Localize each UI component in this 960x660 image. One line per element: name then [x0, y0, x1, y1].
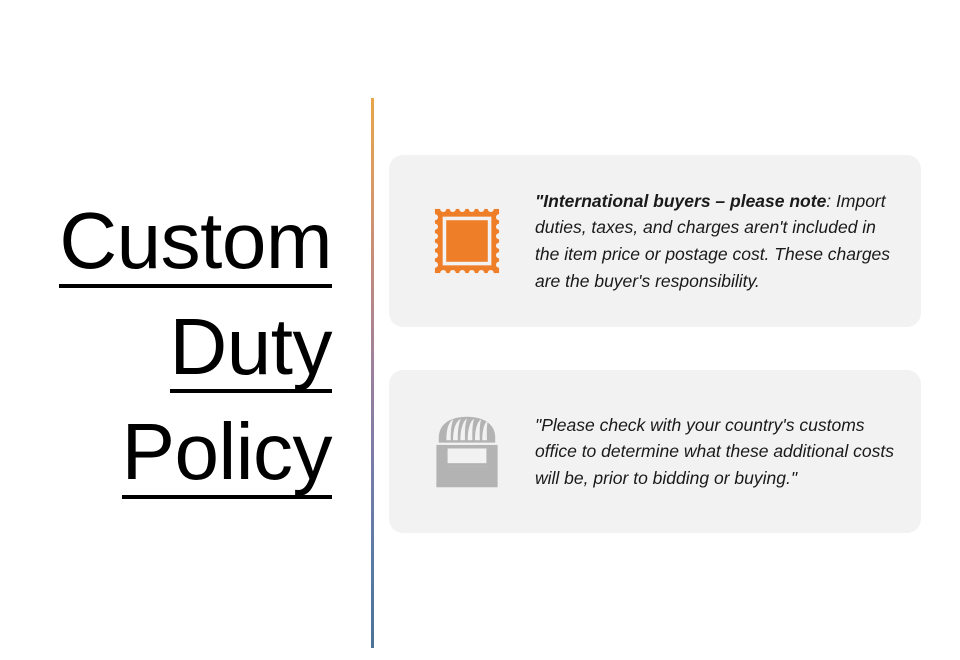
- title-line-1: Custom: [12, 200, 332, 288]
- card-customs-office-note: "Please check with your country's custom…: [389, 370, 921, 533]
- storefront-icon: [427, 414, 507, 490]
- page-title: Custom Duty Policy: [12, 200, 332, 499]
- postage-stamp-icon: [429, 203, 505, 279]
- title-line-3-text: Policy: [122, 411, 332, 499]
- gradient-divider: [371, 98, 374, 648]
- card-2-text: "Please check with your country's custom…: [531, 412, 901, 492]
- card-international-buyers-note: "International buyers – please note: Imp…: [389, 155, 921, 327]
- slide-canvas: Custom Duty Policy: [0, 0, 960, 660]
- card-2-text-rest: "Please check with your country's custom…: [535, 415, 894, 488]
- card-1-text-bold: "International buyers – please note: [535, 191, 826, 211]
- storefront-icon-wrapper: [403, 397, 531, 507]
- cards-container: "International buyers – please note: Imp…: [389, 155, 921, 533]
- title-line-3: Policy: [12, 411, 332, 499]
- postage-stamp-icon-wrapper: [403, 186, 531, 296]
- card-1-text: "International buyers – please note: Imp…: [531, 188, 901, 294]
- title-line-2: Duty: [12, 306, 332, 394]
- title-line-2-text: Duty: [170, 306, 333, 394]
- title-line-1-text: Custom: [59, 200, 332, 288]
